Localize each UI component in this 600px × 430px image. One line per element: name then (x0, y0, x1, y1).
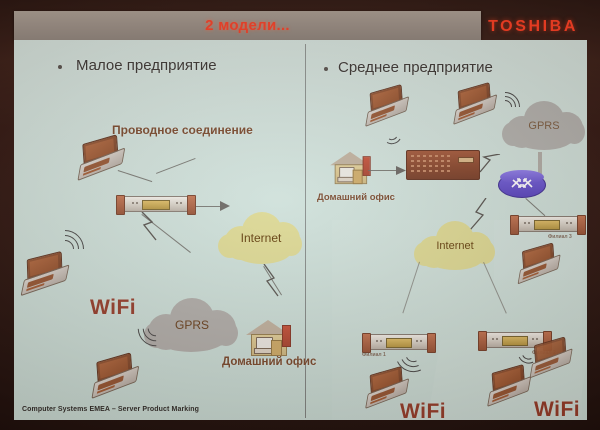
lightning-link-icon (262, 264, 282, 298)
network-switch-icon (512, 216, 584, 232)
laptop-icon (86, 352, 139, 395)
internet-cloud-label: Internet (218, 208, 304, 268)
gprs-cloud-label: GPRS (144, 294, 240, 356)
arrow-head-icon (396, 166, 406, 175)
internet-cloud: Internet (218, 208, 304, 268)
internet-cloud-label: Internet (414, 218, 496, 274)
home-office-label-right: Домашний офис (317, 192, 395, 203)
wired-connection-label: Проводное соединение (112, 123, 253, 137)
laptop-icon (361, 84, 410, 124)
connector-line (525, 198, 545, 216)
left-panel-heading: Малое предприятие (76, 56, 226, 75)
server-icon (406, 150, 480, 180)
slide-footer: Computer Systems EMEA – Server Product M… (22, 406, 199, 413)
internet-cloud: Internet (414, 218, 496, 274)
lightning-link-icon (140, 212, 162, 242)
network-switch-icon (118, 196, 194, 212)
wifi-label-right-1: WiFi (400, 400, 446, 420)
router-icon (498, 172, 546, 198)
branch-label-1: Филиал 1 (362, 352, 386, 358)
wifi-label-right-2: WiFi (534, 398, 580, 420)
laptop-icon (17, 251, 69, 293)
branch-label-3: Филиал 3 (548, 234, 572, 240)
home-office-house-icon (330, 152, 370, 183)
toshiba-logo: TOSHIBA (488, 18, 578, 36)
right-heading-bullet (324, 67, 328, 71)
right-panel-heading: Среднее предприятие (338, 58, 493, 77)
gprs-cloud: GPRS (144, 294, 240, 356)
gprs-cloud-label: GPRS (502, 98, 586, 154)
page-title: 2 модели... (14, 11, 481, 40)
home-office-label-left: Домашний офис (222, 356, 316, 368)
slide-canvas: Малое предприятие Проводное соединение W… (14, 40, 587, 420)
connector-line (118, 170, 153, 182)
laptop-icon (513, 242, 561, 281)
gprs-cloud: GPRS (502, 98, 586, 154)
router-arrows-icon (508, 175, 536, 191)
laptop-icon (483, 364, 532, 404)
connector-line (156, 158, 196, 174)
slide-header-band: 2 модели... (14, 11, 481, 40)
home-office-house-icon (246, 320, 290, 354)
wifi-label-left: WiFi (90, 296, 136, 320)
cloud-stem (538, 152, 542, 174)
left-heading-bullet (58, 65, 62, 69)
